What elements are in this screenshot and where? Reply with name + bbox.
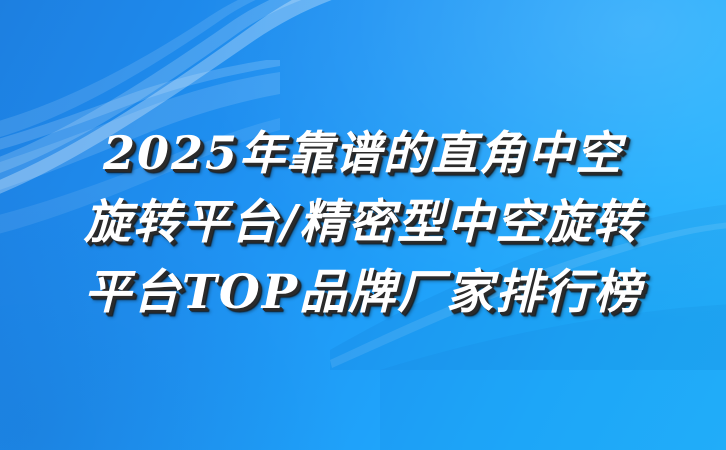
title-line-3: 平台TOP品牌厂家排行榜	[0, 258, 726, 328]
title-line-2: 旋转平台/精密型中空旋转	[0, 188, 726, 258]
title-line-1: 2025年靠谱的直角中空	[0, 118, 726, 188]
promo-banner: 2025年靠谱的直角中空 旋转平台/精密型中空旋转 平台TOP品牌厂家排行榜	[0, 0, 726, 450]
banner-title: 2025年靠谱的直角中空 旋转平台/精密型中空旋转 平台TOP品牌厂家排行榜	[0, 118, 726, 328]
